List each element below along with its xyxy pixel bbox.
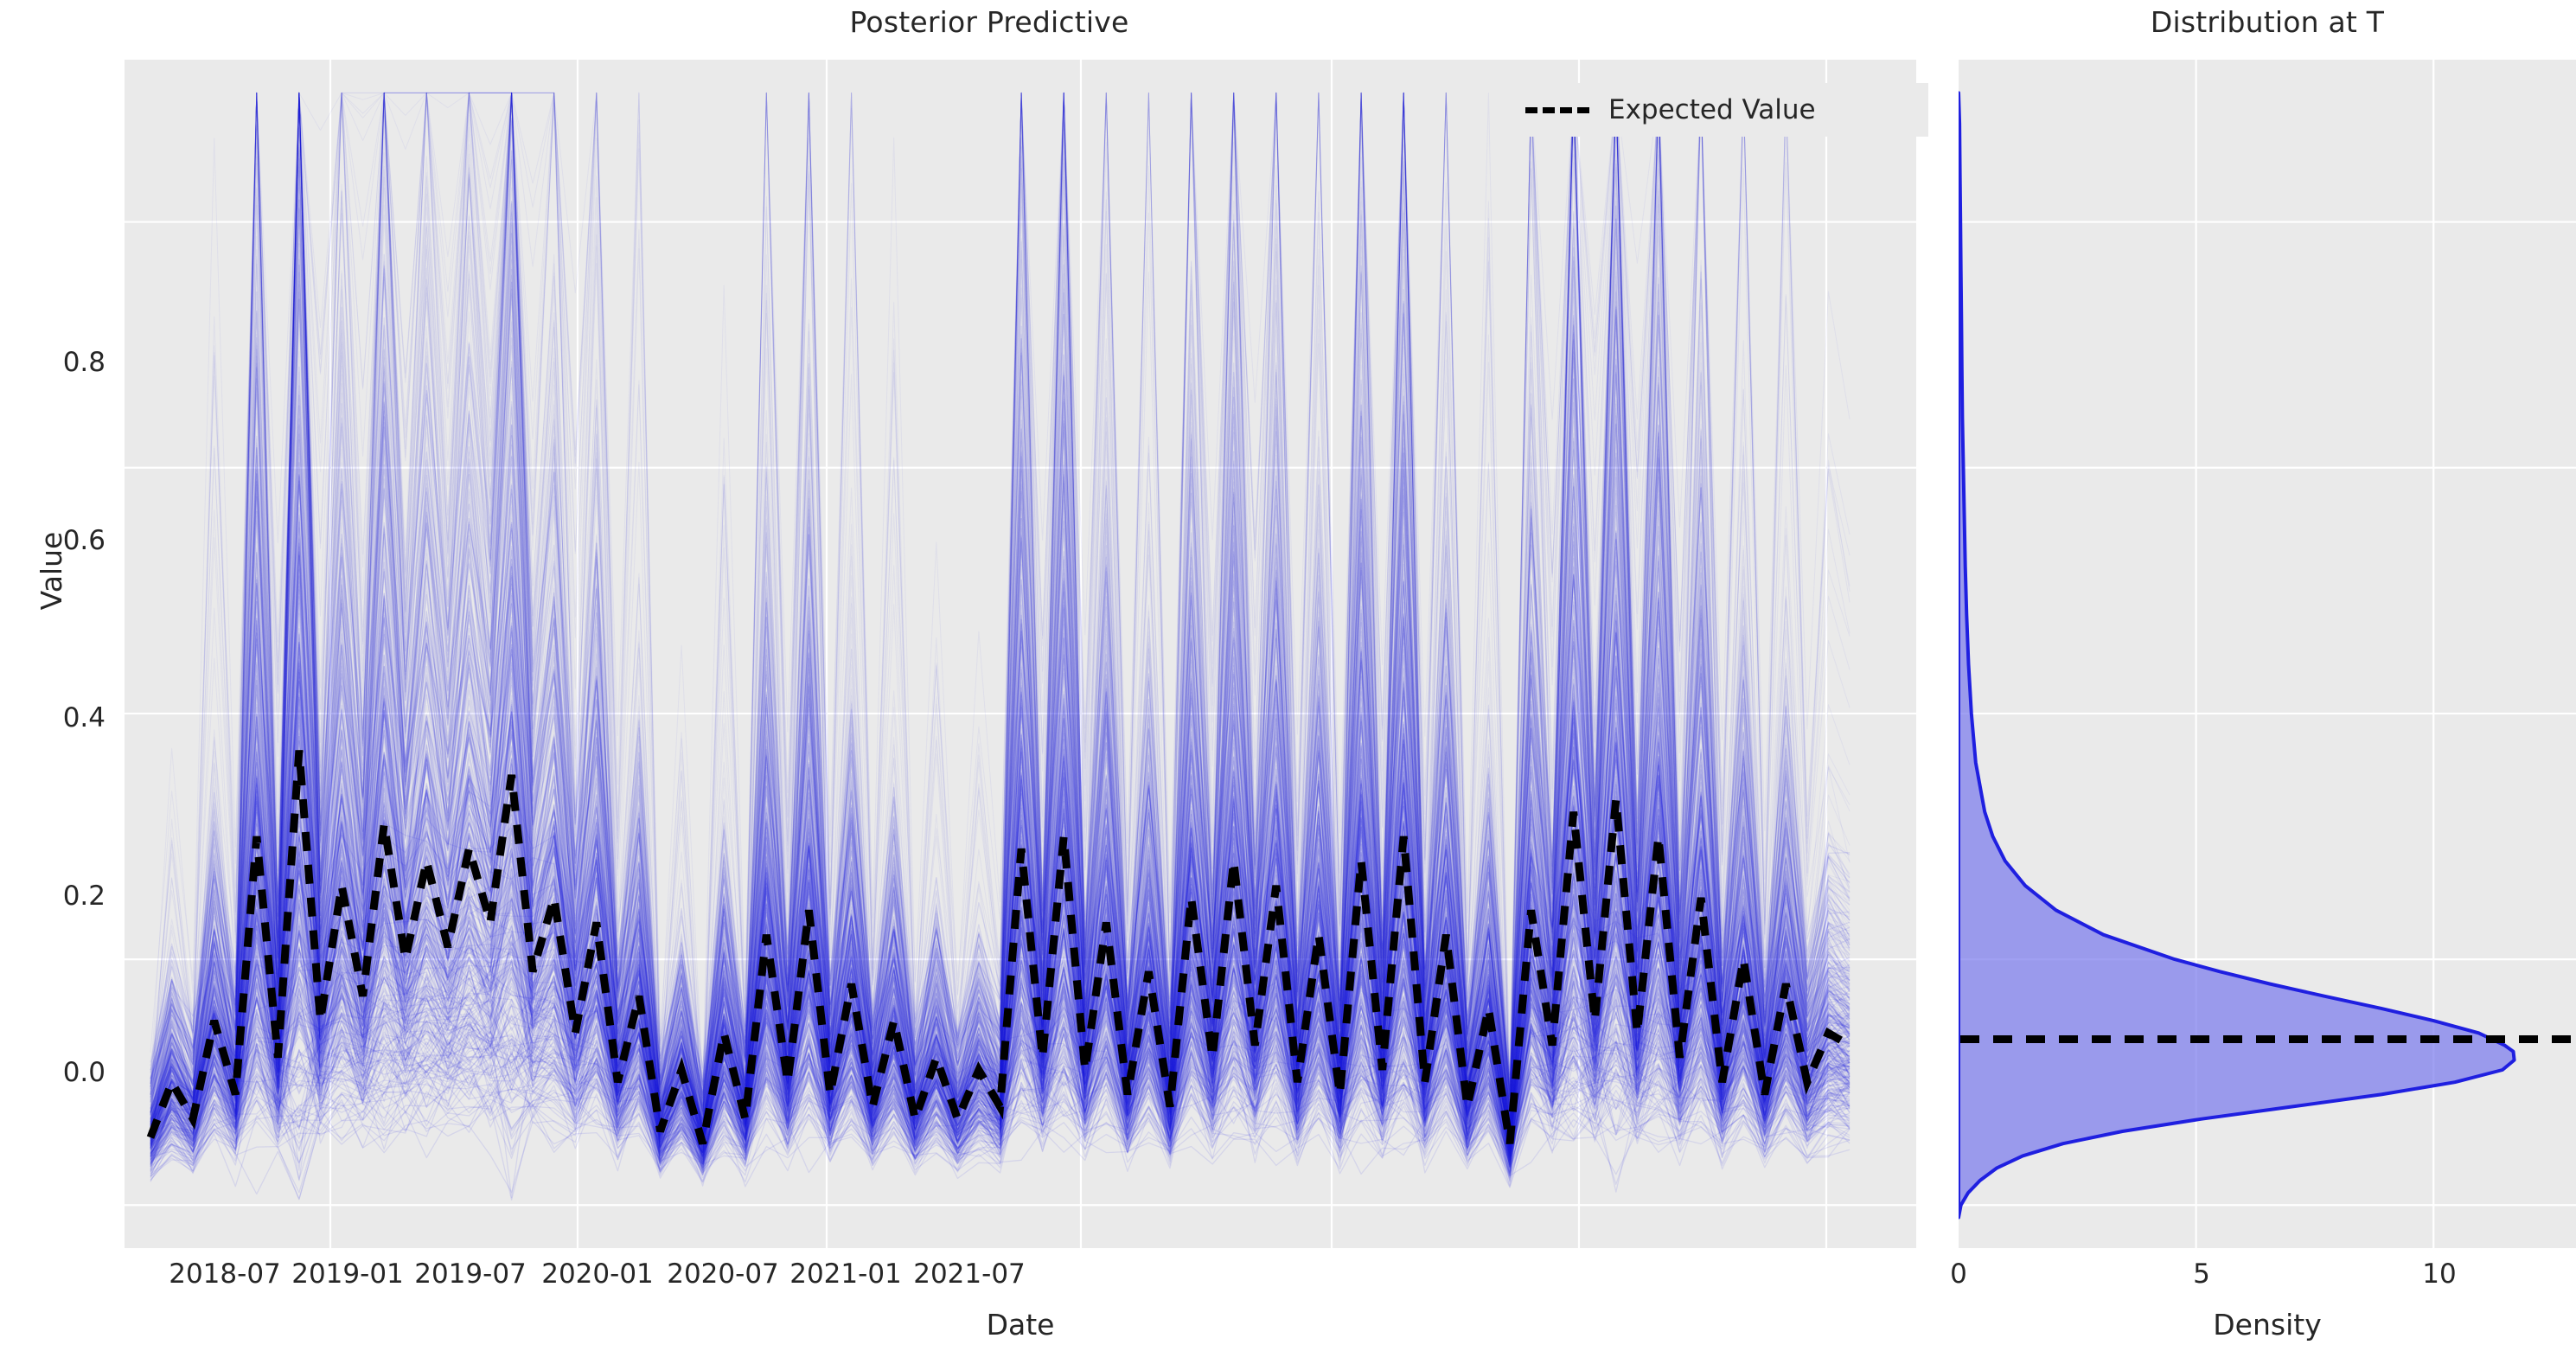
left-yaxis-label: Value <box>35 398 68 744</box>
legend-dash-icon <box>1525 107 1589 113</box>
right-panel-title: Distribution at T <box>1959 5 2576 39</box>
left-xaxis-label: Date <box>125 1308 1916 1342</box>
ytick-label: 0.0 <box>0 1057 105 1088</box>
distribution-at-t-axes <box>1959 60 2576 1248</box>
density-xtick-label: 5 <box>2150 1258 2253 1290</box>
density-xtick-label: 10 <box>2387 1258 2491 1290</box>
density-xtick-label: 0 <box>1907 1258 2010 1290</box>
legend[interactable]: Expected Value <box>1513 83 1928 137</box>
posterior-predictive-plot <box>125 60 1916 1248</box>
right-xaxis-label: Density <box>1959 1308 2576 1342</box>
density-plot <box>1959 60 2576 1248</box>
legend-label: Expected Value <box>1608 94 1816 125</box>
ytick-label: 0.2 <box>0 881 105 912</box>
posterior-predictive-axes <box>125 60 1916 1248</box>
ytick-label: 0.8 <box>0 347 105 378</box>
xtick-label: 2021-07 <box>857 1258 1082 1290</box>
figure-root: Posterior Predictive 0.0 0.2 0.4 0.6 0.8… <box>0 0 2576 1364</box>
left-panel-title: Posterior Predictive <box>125 5 1854 39</box>
